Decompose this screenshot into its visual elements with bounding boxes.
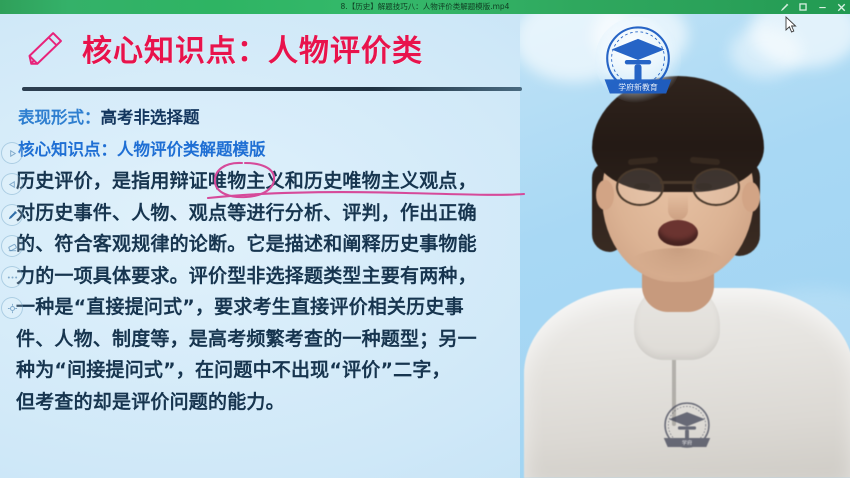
laser-pointer-tool[interactable] [1,297,23,319]
body-line: 历史评价，是指用辩证唯物主义和历史唯物主义观点， [16,166,582,198]
glasses-bridge [660,181,696,184]
eraser-icon [7,241,18,252]
meta-row-form: 表现形式：高考非选择题 [18,104,200,128]
next-arrow-tool[interactable] [1,142,23,164]
svg-text:学府新教育: 学府新教育 [618,82,658,92]
meta-label-form: 表现形式 [18,108,84,127]
meta-label-keypoint: 核心知识点 [18,140,101,159]
dots-icon [7,275,18,280]
school-emblem-logo: 学府新教育 [594,16,682,104]
video-player-window: 8.【历史】解题技巧八：人物评价类解题模版.mp4 [0,0,850,478]
pen-icon [7,210,18,221]
play-arrow-icon [8,149,17,158]
body-line: 一种是“直接提问式”，要求考生直接评价相关历史事 [16,292,582,324]
meta-value-keypoint: 人物评价类解题模版 [117,140,266,159]
annotation-tool-rail[interactable] [1,142,23,319]
presenter-nose [668,194,688,220]
school-emblem-shirt-logo: 学府 [654,398,720,456]
body-line: 对历史事件、人物、观点等进行分析、评判，作出正确 [16,198,582,230]
more-tools-button[interactable] [1,266,23,288]
meta-value-form: 高考非选择题 [101,108,200,127]
meta-row-keypoint: 核心知识点：人物评价类解题模版 [18,136,266,160]
presenter-mouth [658,220,698,246]
meta-sep-keypoint: ： [101,140,118,159]
body-line: 种为“间接提问式”，在问题中不出现“评价”二字， [16,355,582,387]
close-x-icon [837,3,846,12]
body-line: 的、符合客观规律的论断。它是描述和阐释历史事物能 [16,229,582,261]
mouse-cursor [785,16,797,34]
back-arrow-icon [8,180,17,189]
window-controls [780,0,847,14]
pencil-glyph-icon [780,3,789,12]
minimize-dash-icon [818,3,827,11]
glasses-lens-left [616,168,664,206]
slide-content: 核心知识点：人物评价类 表现形式：高考非选择题 核心知识点：人物评价类解题模版 … [0,14,600,478]
page-title: 核心知识点：人物评价类 [82,26,423,70]
close-button[interactable] [837,3,847,12]
body-line: 件、人物、制度等，是高考频繁考查的一种题型；另一 [16,324,582,356]
glasses-lens-right [692,168,740,206]
presenter-chin-shadow [630,248,726,278]
title-underline-rule [22,87,522,91]
back-arrow-tool[interactable] [1,173,23,195]
minimize-button[interactable] [818,3,828,11]
body-line: 但考查的却是评价问题的能力。 [16,387,582,419]
pen-tool[interactable] [1,204,23,226]
pencil-icon [24,27,70,69]
video-stage[interactable]: 学府 学府新教育 [0,14,850,478]
body-line: 力的一项具体要求。评价型非选择题类型主要有两种， [16,261,582,293]
presenter-ear-right [742,182,760,212]
window-titlebar[interactable]: 8.【历史】解题技巧八：人物评价类解题模版.mp4 [0,0,850,14]
edit-pencil-button[interactable] [780,3,790,12]
slide-body-text: 历史评价，是指用辩证唯物主义和历史唯物主义观点， 对历史事件、人物、观点等进行分… [16,166,582,418]
laser-pointer-icon [7,303,18,314]
restore-button[interactable] [799,3,809,11]
window-title: 8.【历史】解题技巧八：人物评价类解题模版.mp4 [0,0,850,14]
eraser-tool[interactable] [1,235,23,257]
meta-sep-form: ： [84,108,101,127]
restore-square-icon [799,3,807,11]
slide-header: 核心知识点：人物评价类 [24,26,423,70]
